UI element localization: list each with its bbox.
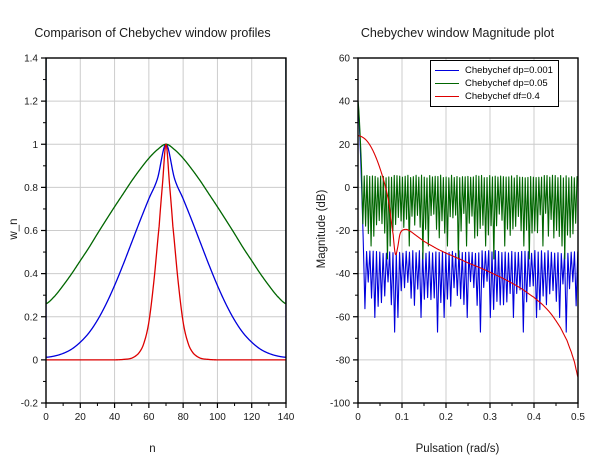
svg-text:40: 40 bbox=[339, 97, 351, 108]
svg-text:0: 0 bbox=[32, 355, 38, 366]
svg-text:0.2: 0.2 bbox=[24, 312, 38, 323]
figure-canvas: Comparison of Chebychev window profiles … bbox=[0, 0, 610, 460]
legend-swatch-2 bbox=[435, 96, 459, 97]
svg-text:40: 40 bbox=[109, 412, 121, 423]
svg-text:0.2: 0.2 bbox=[439, 412, 453, 423]
svg-text:0.5: 0.5 bbox=[571, 412, 585, 423]
svg-text:80: 80 bbox=[178, 412, 190, 423]
series-line-2 bbox=[46, 144, 286, 360]
chart-panel-window-profiles: Comparison of Chebychev window profiles … bbox=[0, 0, 305, 460]
svg-text:0: 0 bbox=[43, 412, 49, 423]
svg-text:0.3: 0.3 bbox=[483, 412, 497, 423]
series-line-1 bbox=[358, 101, 578, 259]
svg-text:1.4: 1.4 bbox=[24, 54, 38, 65]
x-axis-label-left: n bbox=[0, 443, 305, 455]
svg-text:0: 0 bbox=[355, 412, 361, 423]
svg-text:1.2: 1.2 bbox=[24, 97, 38, 108]
svg-text:0.4: 0.4 bbox=[527, 412, 541, 423]
series-line-0 bbox=[46, 144, 286, 357]
svg-text:0.4: 0.4 bbox=[24, 269, 38, 280]
svg-text:-0.2: -0.2 bbox=[21, 399, 39, 410]
y-axis-label-left: w_n bbox=[8, 209, 20, 249]
svg-text:120: 120 bbox=[243, 412, 260, 423]
legend-swatch-0 bbox=[435, 70, 459, 71]
legend-item-1: Chebychef dp=0.05 bbox=[435, 77, 553, 90]
chart-panel-magnitude: Chebychev window Magnitude plot 00.10.20… bbox=[305, 0, 610, 460]
legend-item-2: Chebychef df=0.4 bbox=[435, 90, 553, 103]
legend-label-2: Chebychef df=0.4 bbox=[465, 91, 540, 102]
plot-area-window-profiles: 020406080100120140-0.200.20.40.60.811.21… bbox=[0, 0, 305, 460]
svg-text:20: 20 bbox=[339, 140, 351, 151]
svg-text:100: 100 bbox=[209, 412, 226, 423]
svg-text:0.6: 0.6 bbox=[24, 226, 38, 237]
legend-item-0: Chebychef dp=0.001 bbox=[435, 64, 553, 77]
chart-legend: Chebychef dp=0.001Chebychef dp=0.05Cheby… bbox=[430, 60, 559, 107]
svg-text:60: 60 bbox=[143, 412, 155, 423]
svg-text:140: 140 bbox=[278, 412, 295, 423]
svg-text:0.1: 0.1 bbox=[395, 412, 409, 423]
x-axis-label-right: Pulsation (rad/s) bbox=[305, 443, 610, 455]
svg-text:20: 20 bbox=[75, 412, 87, 423]
series-line-1 bbox=[46, 144, 286, 304]
legend-swatch-1 bbox=[435, 83, 459, 84]
svg-text:-40: -40 bbox=[336, 269, 351, 280]
legend-label-0: Chebychef dp=0.001 bbox=[465, 65, 553, 76]
legend-label-1: Chebychef dp=0.05 bbox=[465, 78, 548, 89]
svg-text:-20: -20 bbox=[336, 226, 351, 237]
svg-text:-100: -100 bbox=[330, 399, 350, 410]
svg-text:0: 0 bbox=[344, 183, 350, 194]
svg-text:0.8: 0.8 bbox=[24, 183, 38, 194]
svg-text:-80: -80 bbox=[336, 355, 351, 366]
y-axis-label-right: Magnitude (dB) bbox=[316, 184, 328, 274]
svg-text:1: 1 bbox=[32, 140, 38, 151]
svg-text:-60: -60 bbox=[336, 312, 351, 323]
svg-text:60: 60 bbox=[339, 54, 351, 65]
